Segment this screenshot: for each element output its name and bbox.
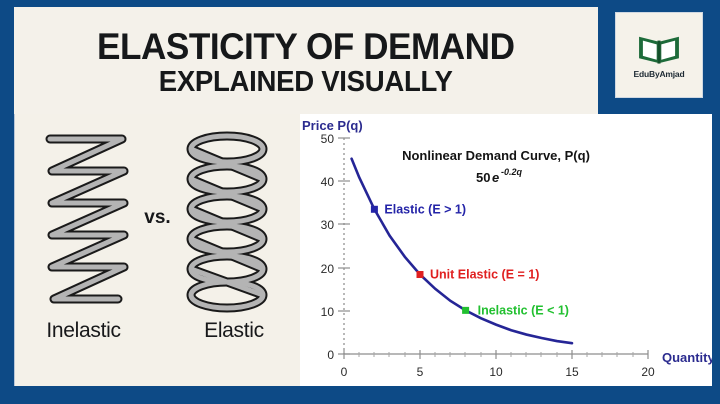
annotation-unit-elastic[interactable]: Unit Elastic (E = 1)	[417, 268, 540, 282]
formula-e: e	[492, 170, 499, 185]
spring-icon-inelastic	[38, 125, 138, 315]
y-tick-20: 20	[321, 262, 335, 276]
x-tick-0: 0	[341, 365, 348, 379]
formula-base: 50	[476, 170, 490, 185]
x-axis-title: Quantity q	[662, 350, 712, 365]
y-tick-0: 0	[327, 348, 334, 362]
frame-left	[0, 0, 14, 404]
marker-unit-elastic	[417, 271, 424, 278]
marker-elastic	[371, 206, 378, 213]
demand-curve-chart: Price P(q) 50 40 30 20 10 0	[300, 114, 712, 386]
chart-svg: Price P(q) 50 40 30 20 10 0	[300, 114, 712, 386]
marker-inelastic	[462, 307, 469, 314]
y-tick-40: 40	[321, 175, 335, 189]
open-book-icon	[636, 32, 682, 66]
header-banner: ELASTICITY OF DEMAND EXPLAINED VISUALLY	[14, 7, 598, 114]
label-inelastic: Inelastic (E < 1)	[478, 303, 569, 317]
x-tick-15: 15	[565, 365, 579, 379]
y-tick-30: 30	[321, 218, 335, 232]
x-tick-20: 20	[641, 365, 655, 379]
y-tick-10: 10	[321, 305, 335, 319]
frame-right	[712, 0, 720, 404]
chart-title: Nonlinear Demand Curve, P(q)	[402, 148, 590, 163]
label-elastic: Elastic (E > 1)	[384, 202, 466, 216]
x-tick-10: 10	[489, 365, 503, 379]
caption-elastic: Elastic	[174, 319, 294, 343]
formula-exponent: -0.2q	[501, 167, 523, 177]
y-ticks	[338, 138, 350, 354]
brand-logo[interactable]: EduByAmjad	[615, 12, 703, 98]
vs-label: vs.	[144, 207, 170, 233]
label-unit-elastic: Unit Elastic (E = 1)	[430, 268, 539, 282]
annotation-elastic[interactable]: Elastic (E > 1)	[371, 202, 466, 216]
springs-captions: Inelastic Elastic	[15, 319, 300, 343]
y-tick-50: 50	[321, 132, 335, 146]
logo-label: EduByAmjad	[634, 69, 685, 79]
slide-root: ELASTICITY OF DEMAND EXPLAINED VISUALLY …	[0, 0, 720, 404]
y-axis-title: Price P(q)	[302, 118, 363, 133]
page-title: ELASTICITY OF DEMAND	[97, 28, 515, 65]
frame-top	[0, 0, 720, 7]
caption-inelastic: Inelastic	[21, 319, 146, 343]
spring-icon-elastic	[177, 125, 277, 315]
x-tick-5: 5	[417, 365, 424, 379]
page-subtitle: EXPLAINED VISUALLY	[159, 67, 453, 97]
springs-illustration-panel: vs.	[15, 114, 300, 386]
annotation-inelastic[interactable]: Inelastic (E < 1)	[462, 303, 569, 317]
frame-bottom	[0, 386, 720, 404]
springs-row: vs.	[15, 120, 300, 320]
